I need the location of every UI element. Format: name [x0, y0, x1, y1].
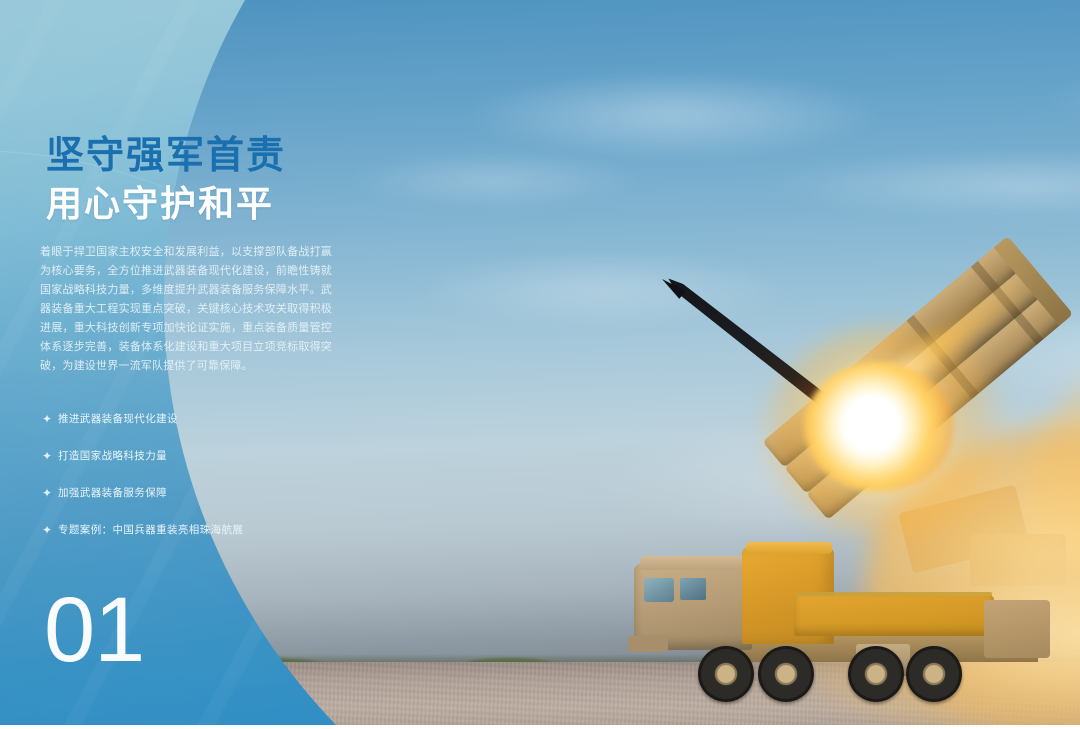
cloud-wisp	[464, 70, 884, 160]
title-line-2: 用心守护和平	[46, 180, 376, 228]
truck-wheel	[848, 646, 904, 702]
truck-rear-module	[984, 600, 1050, 658]
bottom-white-border	[0, 725, 1080, 729]
cloud-wisp	[414, 250, 794, 330]
list-item-label: 加强武器装备服务保障	[58, 485, 167, 500]
list-item-label: 专题案例：中国兵器重装亮相珠海航展	[58, 522, 243, 537]
list-item[interactable]: ✦ 专题案例：中国兵器重装亮相珠海航展	[42, 519, 372, 540]
military-launcher-truck	[634, 540, 1080, 720]
truck-windshield	[644, 578, 674, 602]
truck-side-window	[680, 578, 706, 600]
poster-inner: 坚守强军首责 用心守护和平 着眼于捍卫国家主权安全和发展利益，以支撑部队备战打赢…	[0, 0, 1080, 725]
list-item[interactable]: ✦ 加强武器装备服务保障	[42, 482, 372, 503]
truck-engine-cover-top	[746, 542, 832, 554]
intro-paragraph: 着眼于捍卫国家主权安全和发展利益，以支撑部队备战打赢为核心要务，全方位推进武器装…	[40, 243, 332, 376]
bullet-star-icon: ✦	[42, 413, 58, 425]
list-item[interactable]: ✦ 打造国家战略科技力量	[42, 445, 372, 466]
bullet-star-icon: ✦	[42, 450, 58, 462]
list-item-label: 打造国家战略科技力量	[58, 448, 167, 463]
truck-flatbed-deck	[794, 596, 994, 636]
truck-bumper	[628, 636, 668, 652]
poster-page: 坚守强军首责 用心守护和平 着眼于捍卫国家主权安全和发展利益，以支撑部队备战打赢…	[0, 0, 1080, 729]
truck-wheel	[906, 646, 962, 702]
list-item-label: 推进武器装备现代化建设	[58, 411, 178, 426]
text-column: 坚守强军首责 用心守护和平 着眼于捍卫国家主权安全和发展利益，以支撑部队备战打赢…	[0, 0, 430, 725]
truck-wheel	[758, 646, 814, 702]
list-item[interactable]: ✦ 推进武器装备现代化建设	[42, 408, 372, 429]
title-line-1: 坚守强军首责	[46, 132, 376, 180]
section-number: 01	[44, 584, 144, 676]
bullet-star-icon: ✦	[42, 487, 58, 499]
bullet-star-icon: ✦	[42, 524, 58, 536]
highlight-list: ✦ 推进武器装备现代化建设 ✦ 打造国家战略科技力量 ✦ 加强武器装备服务保障 …	[42, 408, 372, 556]
muzzle-flash-core	[804, 362, 954, 492]
truck-cab-roof	[640, 556, 744, 570]
truck-wheel	[698, 646, 754, 702]
page-title: 坚守强军首责 用心守护和平	[46, 132, 376, 228]
